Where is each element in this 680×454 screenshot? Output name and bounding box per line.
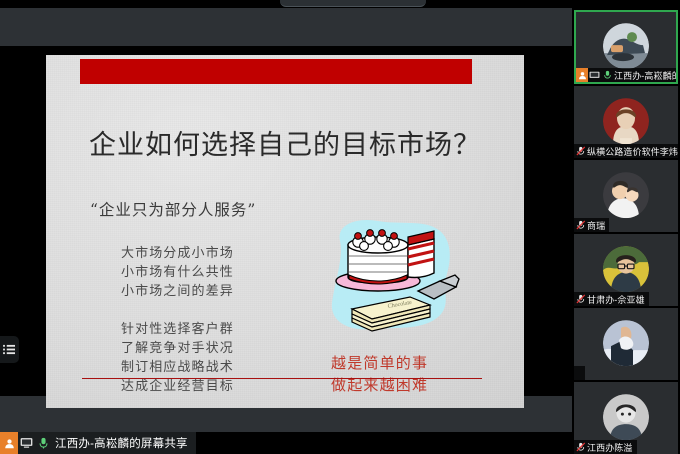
stage-top-chrome (0, 8, 572, 46)
avatar (603, 320, 649, 366)
avatar (603, 172, 649, 218)
slide-title: 企业如何选择自己的目标市场？ (46, 123, 524, 162)
slide-bullet-group-2: 针对性选择客户群 了解竞争对手状况 制订相应战略战术 达成企业经营目标 (121, 320, 234, 396)
microphone-muted-icon (574, 440, 587, 454)
conference-window: 企业如何选择自己的目标市场？ “企业只为部分人服务” 大市场分成小市场 小市场有… (0, 0, 680, 454)
microphone-icon (601, 68, 614, 82)
slide-header-bar (80, 59, 472, 84)
participant-name: 甘肃办-佘亚雄 (587, 293, 645, 306)
bullet-item: 针对性选择客户群 (121, 320, 234, 339)
panel-toggle-button[interactable] (0, 336, 19, 363)
microphone-muted-icon (574, 144, 587, 158)
bullet-item: 了解竞争对手状况 (121, 339, 234, 358)
participant-name-chip: 江西办陈溢 (574, 440, 637, 454)
presentation-slide: 企业如何选择自己的目标市场？ “企业只为部分人服务” 大市场分成小市场 小市场有… (46, 55, 524, 408)
participant-tile[interactable]: 纵横公路造价软件李炜炘 (574, 86, 678, 158)
shared-screen-stage[interactable]: 企业如何选择自己的目标市场？ “企业只为部分人服务” 大市场分成小市场 小市场有… (0, 8, 572, 432)
screen-share-status-bar[interactable]: 江西办-高崧麟的屏幕共享 (0, 432, 196, 454)
list-panel-icon (3, 344, 16, 355)
participant-name: 商瑞 (587, 219, 605, 232)
top-toolbar-pill[interactable] (280, 0, 426, 7)
microphone-muted-icon (574, 292, 587, 306)
participant-tile[interactable]: 甘肃办-佘亚雄 (574, 234, 678, 306)
bullet-item: 小市场有什么共性 (121, 263, 234, 282)
participant-tile[interactable]: 商瑞 (574, 160, 678, 232)
participant-name-chip: 纵横公路造价软件李炜炘 (574, 144, 678, 158)
participant-icon (0, 432, 18, 454)
participant-name-chip (574, 366, 585, 380)
share-owner-label: 江西办-高崧麟的屏幕共享 (55, 435, 188, 451)
participant-name: 江西办-高崧麟的 (614, 69, 678, 82)
bullet-item: 大市场分成小市场 (121, 244, 234, 263)
slide-bullet-group-1: 大市场分成小市场 小市场有什么共性 小市场之间的差异 (121, 244, 234, 301)
participant-name-chip: 江西办-高崧麟的 (576, 68, 678, 82)
participant-name-chip: 商瑞 (574, 218, 609, 232)
slide-slogan: 越是简单的事 做起来越困难 (331, 352, 428, 396)
participant-name: 江西办陈溢 (587, 441, 633, 454)
microphone-icon (35, 432, 52, 454)
participant-tile[interactable]: 江西办-高崧麟的 (574, 10, 678, 84)
participant-name: 纵横公路造价软件李炜炘 (587, 145, 678, 158)
bullet-item: 制订相应战略战术 (121, 358, 234, 377)
avatar (603, 246, 649, 292)
screen-share-icon (588, 68, 601, 82)
slide-quote: “企业只为部分人服务” (90, 198, 256, 220)
bullet-item: 达成企业经营目标 (121, 377, 234, 396)
avatar (603, 394, 649, 440)
avatar (603, 98, 649, 144)
participant-tile[interactable] (574, 308, 678, 380)
screen-share-icon (18, 432, 35, 454)
bullet-item: 小市场之间的差异 (121, 282, 234, 301)
participant-filmstrip[interactable]: 江西办-高崧麟的 (572, 0, 680, 454)
slide-footer-rule (82, 378, 482, 379)
microphone-muted-icon (574, 218, 587, 232)
cake-clipart-icon: Chocolate (322, 215, 462, 337)
participant-name-chip: 甘肃办-佘亚雄 (574, 292, 649, 306)
participant-tile[interactable]: 江西办陈溢 (574, 382, 678, 454)
avatar (603, 23, 649, 69)
slogan-line: 越是简单的事 (331, 352, 428, 374)
participant-icon (576, 68, 588, 82)
